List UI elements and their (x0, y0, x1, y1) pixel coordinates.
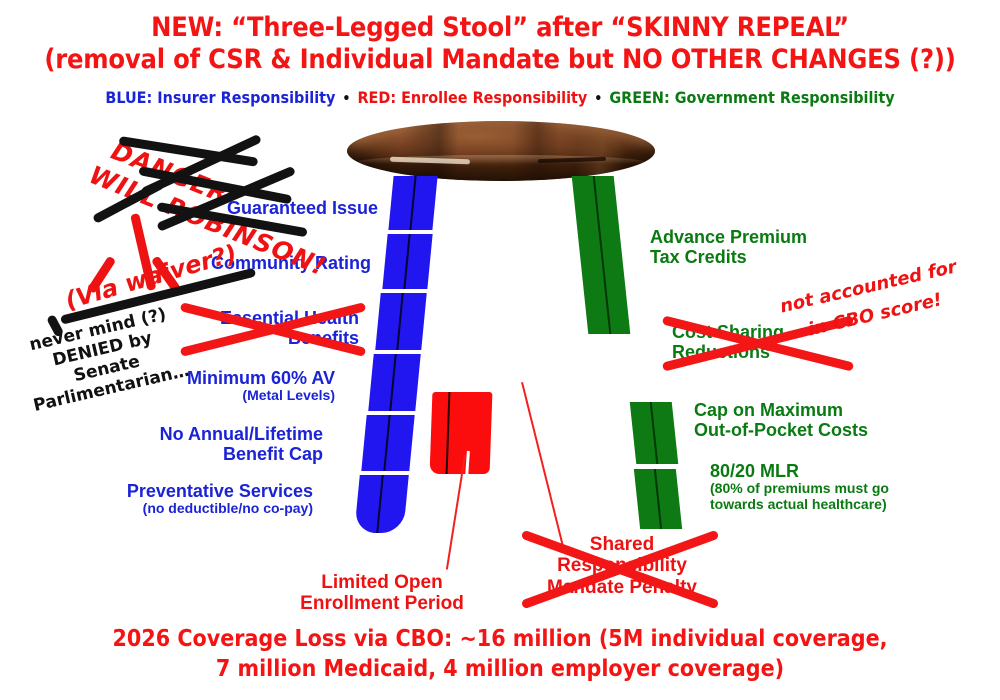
insurer-leg-segment (382, 234, 432, 289)
color-legend: BLUE: Insurer Responsibility•RED: Enroll… (0, 88, 1000, 108)
enrollee-item-label2: Enrollment Period (300, 593, 464, 614)
footer-line2: 7 million Medicaid, 4 million employer c… (0, 656, 1000, 682)
government-item-label: Cost Sharing (672, 322, 784, 342)
government-item-label: 80/20 MLR (710, 461, 799, 481)
government-leg-segment-top (572, 176, 631, 334)
government-item-sub: (80% of premiums must go (710, 481, 889, 497)
government-item-advance-premium-tax-credits: Advance Premium Tax Credits (650, 227, 807, 267)
insurer-item-sub: (no deductible/no co-pay) (0, 501, 313, 517)
infographic-canvas: NEW: “Three-Legged Stool” after “SKINNY … (0, 0, 1000, 700)
legend-red: RED: Enrollee Responsibility (357, 88, 587, 107)
government-item-label2: Reductions (672, 342, 770, 362)
government-item-label2: Out-of-Pocket Costs (694, 420, 868, 440)
insurer-item-label2: Benefit Cap (223, 444, 323, 464)
legend-separator-1: • (335, 91, 357, 107)
page-title-line1: NEW: “Three-Legged Stool” after “SKINNY … (0, 12, 1000, 43)
insurer-item-preventative-services: Preventative Services (no deductible/no … (0, 481, 313, 517)
wood-grain (347, 121, 655, 181)
insurer-leg-segment (375, 293, 426, 350)
legend-green: GREEN: Government Responsibility (609, 88, 894, 107)
enrollee-item-label3: Mandate Penalty (547, 577, 697, 598)
government-item-cap-on-max-oop: Cap on Maximum Out-of-Pocket Costs (694, 400, 868, 440)
legend-blue: BLUE: Insurer Responsibility (105, 88, 335, 107)
government-item-label: Cap on Maximum (694, 400, 843, 420)
page-title-line2: (removal of CSR & Individual Mandate but… (0, 44, 1000, 75)
insurer-item-label: Preventative Services (127, 481, 313, 501)
insurer-item-label: Essential Health (220, 308, 359, 328)
insurer-leg-segment (361, 415, 414, 471)
government-item-sub2: towards actual healthcare) (710, 497, 889, 513)
government-item-label2: Tax Credits (650, 247, 747, 267)
insurer-leg-segment-foot (354, 475, 409, 533)
insurer-item-label2: Benefits (288, 328, 359, 348)
enrollee-item-limited-open-enrollment: Limited Open Enrollment Period (282, 572, 482, 615)
insurer-item-label: Minimum 60% AV (187, 368, 335, 388)
enrollee-leg-stub (430, 392, 493, 474)
insurer-leg-segment (368, 354, 420, 411)
annotation-via-waiver: (Via waiver?) (62, 239, 240, 315)
stool-seat (347, 121, 655, 181)
government-item-label: Advance Premium (650, 227, 807, 247)
leader-line-mandate (521, 382, 564, 545)
enrollee-item-label2: Responsibility (557, 555, 687, 576)
government-leg-segment-bottom (634, 469, 682, 529)
legend-separator-2: • (587, 91, 609, 107)
government-item-cost-sharing-reductions: Cost Sharing Reductions (672, 322, 784, 362)
enrollee-item-label: Shared (590, 534, 654, 555)
enrollee-item-label: Limited Open (321, 572, 442, 593)
insurer-item-no-annual-lifetime-cap: No Annual/Lifetime Benefit Cap (0, 424, 323, 464)
government-item-mlr: 80/20 MLR (80% of premiums must go towar… (710, 461, 889, 513)
footer-line1: 2026 Coverage Loss via CBO: ~16 million … (0, 626, 1000, 652)
enrollee-item-shared-responsibility-penalty: Shared Responsibility Mandate Penalty (522, 534, 722, 598)
insurer-item-label: No Annual/Lifetime (160, 424, 323, 444)
government-leg-segment-mid (630, 402, 679, 464)
insurer-item-label: Guaranteed Issue (227, 198, 378, 218)
insurer-leg-segment (388, 176, 437, 230)
